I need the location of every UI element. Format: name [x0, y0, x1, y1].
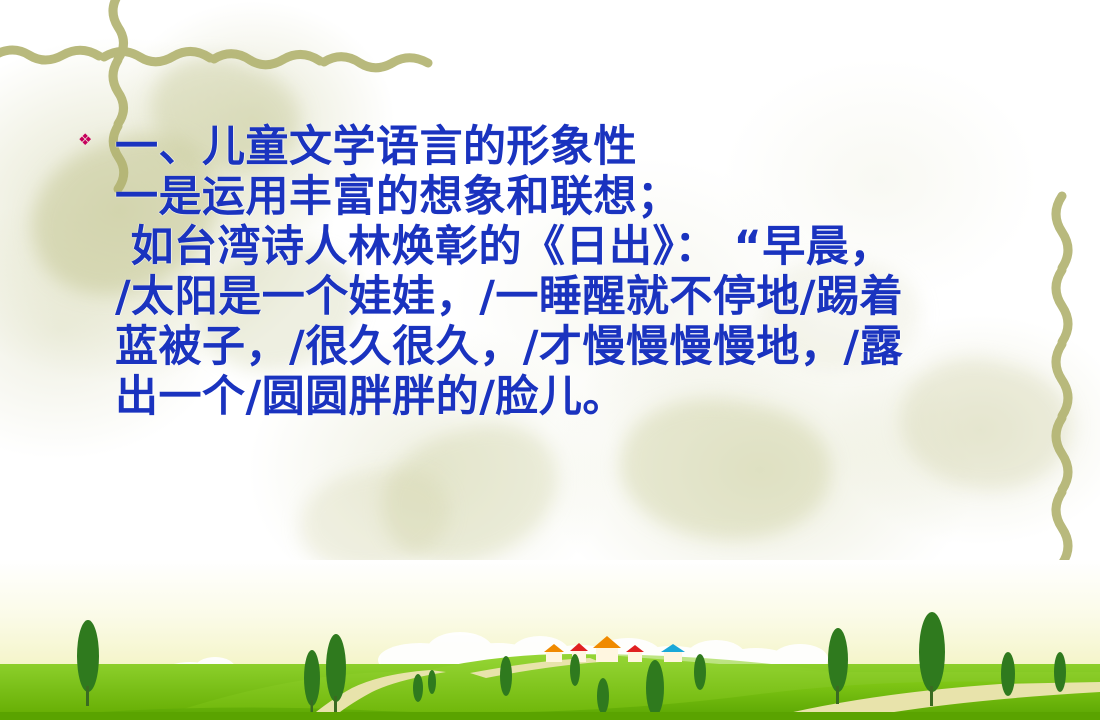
- landscape-illustration: [0, 560, 1100, 720]
- slide-heading: 一、儿童文学语言的形象性: [78, 122, 1038, 172]
- diamond-bullet-icon: ❖: [78, 132, 104, 158]
- slide-canvas: ❖ 一、儿童文学语言的形象性 一是运用丰富的想象和联想； 如台湾诗人林焕彰的《日…: [0, 0, 1100, 720]
- body-line-4: 出一个/圆圆胖胖的/脸儿。: [78, 372, 1038, 422]
- heading-row: ❖ 一、儿童文学语言的形象性 一是运用丰富的想象和联想； 如台湾诗人林焕彰的《日…: [78, 122, 1038, 422]
- body-line-3: 蓝被子，/很久很久，/才慢慢慢慢地，/露: [78, 322, 1038, 372]
- body-line-1: 如台湾诗人林焕彰的《日出》： “早晨，: [78, 222, 1038, 272]
- slide-text-block: ❖ 一、儿童文学语言的形象性 一是运用丰富的想象和联想； 如台湾诗人林焕彰的《日…: [78, 122, 1038, 422]
- body-line-2: /太阳是一个娃娃，/一睡醒就不停地/踢着: [78, 272, 1038, 322]
- text-lines: 一、儿童文学语言的形象性 一是运用丰富的想象和联想； 如台湾诗人林焕彰的《日出》…: [78, 122, 1038, 422]
- slide-subheading: 一是运用丰富的想象和联想；: [78, 172, 1038, 222]
